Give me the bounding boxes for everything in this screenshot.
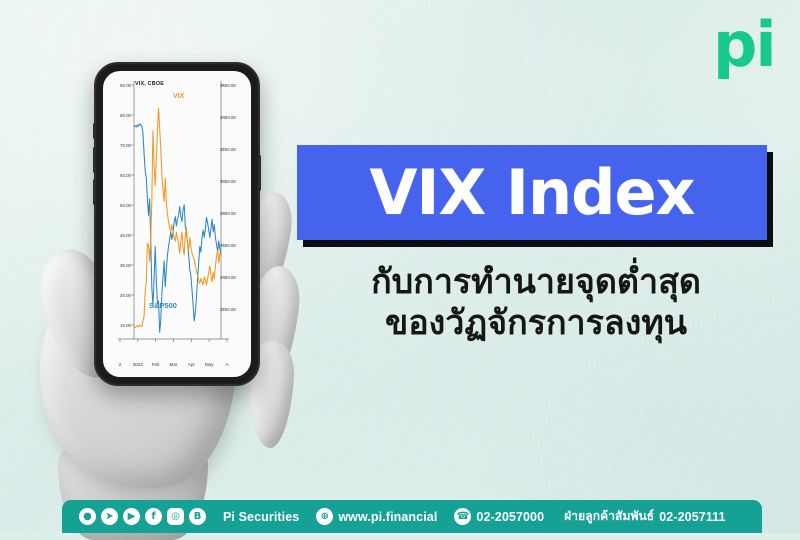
telegram-icon[interactable]: ➤ xyxy=(101,508,118,525)
chart-left-tick: 40.00 xyxy=(105,233,131,238)
vix-index-banner: VIX Index xyxy=(297,145,767,240)
phone-mute-button[interactable] xyxy=(93,123,96,139)
smartphone-device: VIX, CBOE VIX S&P500 90.0080.0070.0060.0… xyxy=(94,62,260,386)
pi-logo: pi xyxy=(713,14,783,76)
chart-right-tick: 2800.00 xyxy=(220,211,250,216)
instagram-icon[interactable]: ◎ xyxy=(167,508,184,525)
phone-volume-up-button[interactable] xyxy=(93,147,96,173)
chart-left-tick: 50.00 xyxy=(105,203,131,208)
chart-right-tick: 3000.00 xyxy=(220,179,250,184)
chart-annotation-vix: VIX xyxy=(173,93,184,100)
blockdit-icon[interactable]: B xyxy=(189,508,206,525)
chart-left-tick: 80.00 xyxy=(105,113,131,118)
chart-x-tick: A xyxy=(216,362,238,367)
chart-right-tick: 3600.00 xyxy=(220,83,250,88)
chart-right-tick: 2600.00 xyxy=(220,243,250,248)
chart-left-tick: 70.00 xyxy=(105,143,131,148)
subtitle-line-2: ของวัฏจักรการลงทุน xyxy=(300,303,772,344)
phone-screen: VIX, CBOE VIX S&P500 90.0080.0070.0060.0… xyxy=(103,71,251,377)
hand-holding-phone-image: VIX, CBOE VIX S&P500 90.0080.0070.0060.0… xyxy=(18,40,308,500)
phone-main[interactable]: 02-2057000 xyxy=(476,510,544,524)
chart-left-tick: 90.00 xyxy=(105,83,131,88)
facebook-icon[interactable]: f xyxy=(145,508,162,525)
support-label: ฝ่ายลูกค้าสัมพันธ์ xyxy=(564,507,654,526)
chart-title: VIX, CBOE xyxy=(135,81,164,87)
subtitle-line-1: กับการทำนายจุดต่ำสุด xyxy=(300,262,772,303)
subtitle-block: กับการทำนายจุดต่ำสุด ของวัฏจักรการลงทุน xyxy=(300,262,772,345)
phone-icon: ☎ xyxy=(454,508,471,525)
website-url[interactable]: www.pi.financial xyxy=(338,510,437,524)
vix-sp500-chart: VIX, CBOE VIX S&P500 90.0080.0070.0060.0… xyxy=(103,71,251,377)
chart-left-tick: 20.00 xyxy=(105,293,131,298)
chart-right-tick: 2400.00 xyxy=(220,275,250,280)
chart-right-tick: 3200.00 xyxy=(220,147,250,152)
youtube-icon[interactable]: ▶ xyxy=(123,508,140,525)
phone-volume-down-button[interactable] xyxy=(93,179,96,205)
line-icon[interactable]: ● xyxy=(79,508,96,525)
chart-left-tick: 60.00 xyxy=(105,173,131,178)
chart-left-tick: 30.00 xyxy=(105,263,131,268)
globe-icon: ⊕ xyxy=(316,508,333,525)
phone-support[interactable]: 02-2057111 xyxy=(659,510,725,524)
chart-right-tick: 3400.00 xyxy=(220,115,250,120)
contact-footer-bar: ● ➤ ▶ f ◎ B Pi Securities ⊕ www.pi.finan… xyxy=(62,500,762,533)
phone-power-button[interactable] xyxy=(258,155,261,191)
chart-annotation-sp500: S&P500 xyxy=(149,301,177,310)
banner-title: VIX Index xyxy=(369,156,694,229)
chart-left-tick: 10.00 xyxy=(105,323,131,328)
pi-logo-text: pi xyxy=(713,14,783,76)
chart-right-tick: 2200.00 xyxy=(220,307,250,312)
company-name: Pi Securities xyxy=(223,510,299,524)
